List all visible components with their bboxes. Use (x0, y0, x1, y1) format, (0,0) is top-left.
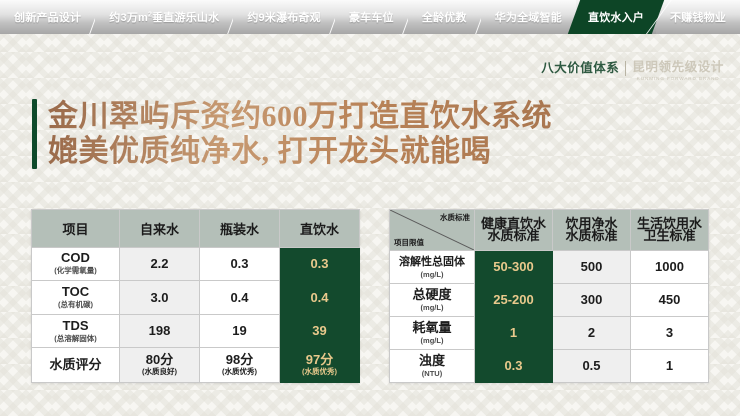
nav-tab-5[interactable]: 华为全域智能 (481, 0, 576, 34)
headline-text: 金川翠屿斥资约600万打造直饮水系统 媲美优质纯净水, 打开龙头就能喝 (48, 99, 552, 169)
row-label-main: 浊度 (390, 354, 474, 368)
diagonal-split-header: 水质标准项目限值 (390, 210, 474, 250)
row-label: COD(化学需氧量) (32, 247, 120, 281)
data-cell-r3-c1: 0.5 (553, 350, 631, 383)
row-label: 浊度(NTU) (390, 350, 475, 383)
cell-value: 3 (631, 326, 708, 340)
row-label-main: COD (32, 251, 119, 265)
row-label-main: 溶解性总固体 (390, 255, 474, 269)
data-cell-r1-c2: 450 (631, 284, 709, 317)
cell-value: 19 (200, 324, 279, 338)
data-cell-r0-c0: 50-300 (475, 251, 553, 284)
brand-lockup: 八大价值体系 昆明领先级设计 KUNMING FORWARD BRAND (541, 60, 724, 90)
nav-tab-label: 约9米瀑布奇观 (247, 9, 321, 25)
data-cell-r2-c1: 2 (553, 317, 631, 350)
data-cell-r1-c0: 25-200 (475, 284, 553, 317)
table-row: 总硬度(mg/L)25-200300450 (390, 284, 709, 317)
column-header-line2: 水质标准 (475, 230, 552, 242)
corner-label-top: 水质标准 (440, 212, 470, 223)
cell-value: 1 (475, 326, 552, 340)
data-cell-r2-c2: 39 (280, 314, 360, 348)
row-label-sub: (总有机碳) (32, 300, 119, 310)
row-label: 水质评分 (32, 348, 120, 383)
cell-value: 450 (631, 293, 708, 307)
cell-value: 2.2 (120, 257, 199, 271)
cell-value: 50-300 (475, 260, 552, 274)
data-cell-r0-c2: 1000 (631, 251, 709, 284)
data-cell-r1-c1: 0.4 (200, 281, 280, 315)
nav-tab-label: 全龄优教 (422, 9, 467, 25)
brand-main-title: 八大价值体系 (541, 60, 619, 76)
column-header-line2: 卫生标准 (631, 230, 708, 242)
nav-tab-2[interactable]: 约9米瀑布奇观 (233, 0, 335, 34)
cell-value: 0.4 (280, 291, 359, 305)
table-row: 溶解性总固体(mg/L)50-3005001000 (390, 251, 709, 284)
corner-header-cell: 水质标准项目限值 (390, 210, 475, 251)
data-cell-r0-c1: 0.3 (200, 247, 280, 281)
headline-line-1: 金川翠屿斥资约600万打造直饮水系统 (48, 99, 552, 134)
brand-subtitle: 昆明领先级设计 (632, 60, 724, 75)
cell-value: 300 (553, 293, 630, 307)
headline-line-2: 媲美优质纯净水, 打开龙头就能喝 (48, 134, 552, 169)
row-label: 耗氧量(mg/L) (390, 317, 475, 350)
nav-tab-label: 豪车车位 (349, 9, 394, 25)
cell-value: 80分 (120, 353, 199, 367)
row-label-sub: (化学需氧量) (32, 266, 119, 276)
brand-divider (625, 61, 626, 76)
column-header-line2: 水质标准 (553, 230, 630, 242)
nav-tab-label: 不赚钱物业 (670, 9, 726, 25)
cell-value: 198 (120, 324, 199, 338)
data-cell-r2-c0: 198 (120, 314, 200, 348)
top-navigation: 创新产品设计约3万m2垂直游乐山水约9米瀑布奇观豪车车位全龄优教华为全域智能直饮… (0, 0, 740, 34)
data-cell-r3-c1: 98分(水质优秀) (200, 348, 280, 383)
headline-accent-bar (32, 99, 37, 169)
cell-value: 0.3 (200, 257, 279, 271)
row-label-sub: (总溶解固体) (32, 334, 119, 344)
row-label: TDS(总溶解固体) (32, 314, 120, 348)
data-cell-r0-c2: 0.3 (280, 247, 360, 281)
data-cell-r3-c2: 97分(水质优秀) (280, 348, 360, 383)
data-cell-r2-c2: 3 (631, 317, 709, 350)
cell-value-sub: (水质优秀) (200, 367, 279, 377)
cell-value: 3.0 (120, 291, 199, 305)
table-row: TDS(总溶解固体)1981939 (32, 314, 360, 348)
table-row: 水质评分80分(水质良好)98分(水质优秀)97分(水质优秀) (32, 348, 360, 383)
column-header-0: 项目 (32, 210, 120, 248)
row-label: 总硬度(mg/L) (390, 284, 475, 317)
corner-label-bottom: 项目限值 (394, 237, 424, 248)
slide-canvas: 创新产品设计约3万m2垂直游乐山水约9米瀑布奇观豪车车位全龄优教华为全域智能直饮… (0, 0, 740, 416)
data-cell-r0-c0: 2.2 (120, 247, 200, 281)
row-label-sub: (mg/L) (390, 336, 474, 346)
row-label: TOC(总有机碳) (32, 281, 120, 315)
cell-value: 39 (280, 324, 359, 338)
table-row: COD(化学需氧量)2.20.30.3 (32, 247, 360, 281)
row-label-main: 耗氧量 (390, 321, 474, 335)
column-header-1: 饮用净水水质标准 (553, 210, 631, 251)
cell-value-sub: (水质优秀) (280, 367, 359, 377)
row-label-main: TOC (32, 285, 119, 299)
data-cell-r2-c1: 19 (200, 314, 280, 348)
nav-tab-0[interactable]: 创新产品设计 (0, 0, 95, 34)
water-standard-table: 水质标准项目限值健康直饮水水质标准饮用净水水质标准生活饮用水卫生标准溶解性总固体… (389, 209, 709, 383)
cell-value: 0.3 (475, 359, 552, 373)
row-label-sub: (NTU) (390, 369, 474, 379)
nav-tab-label: 直饮水入户 (588, 9, 644, 25)
column-header-2: 生活饮用水卫生标准 (631, 210, 709, 251)
cell-value: 0.3 (280, 257, 359, 271)
nav-tab-label: 华为全域智能 (495, 9, 562, 25)
cell-value: 1 (631, 359, 708, 373)
table-row: TOC(总有机碳)3.00.40.4 (32, 281, 360, 315)
row-label-sub: (mg/L) (390, 270, 474, 280)
table-header-row: 水质标准项目限值健康直饮水水质标准饮用净水水质标准生活饮用水卫生标准 (390, 210, 709, 251)
column-header-1: 自来水 (120, 210, 200, 248)
cell-value: 98分 (200, 353, 279, 367)
data-cell-r1-c2: 0.4 (280, 281, 360, 315)
nav-tab-1[interactable]: 约3万m2垂直游乐山水 (95, 0, 233, 34)
cell-value: 25-200 (475, 293, 552, 307)
nav-tab-label: 约3万m2垂直游乐山水 (109, 9, 219, 25)
data-cell-r3-c0: 80分(水质良好) (120, 348, 200, 383)
nav-tab-label: 创新产品设计 (14, 9, 81, 25)
row-label-main: TDS (32, 319, 119, 333)
cell-value: 500 (553, 260, 630, 274)
row-label-sub: (mg/L) (390, 303, 474, 313)
table-row: 浊度(NTU)0.30.51 (390, 350, 709, 383)
cell-value: 97分 (280, 353, 359, 367)
nav-tab-3[interactable]: 豪车车位 (335, 0, 408, 34)
nav-tab-6[interactable]: 直饮水入户 (568, 0, 664, 34)
data-cell-r0-c1: 500 (553, 251, 631, 284)
cell-value: 0.4 (200, 291, 279, 305)
tables-row: 项目自来水瓶装水直饮水COD(化学需氧量)2.20.30.3TOC(总有机碳)3… (0, 209, 740, 383)
water-comparison-table: 项目自来水瓶装水直饮水COD(化学需氧量)2.20.30.3TOC(总有机碳)3… (31, 209, 360, 383)
cell-value: 2 (553, 326, 630, 340)
row-label-main: 总硬度 (390, 288, 474, 302)
cell-value: 1000 (631, 260, 708, 274)
nav-tab-7[interactable]: 不赚钱物业 (656, 0, 740, 34)
data-cell-r2-c0: 1 (475, 317, 553, 350)
data-cell-r3-c0: 0.3 (475, 350, 553, 383)
table-header-row: 项目自来水瓶装水直饮水 (32, 210, 360, 248)
row-label: 溶解性总固体(mg/L) (390, 251, 475, 284)
headline-block: 金川翠屿斥资约600万打造直饮水系统 媲美优质纯净水, 打开龙头就能喝 (32, 99, 552, 169)
row-label-main: 水质评分 (32, 358, 119, 372)
data-cell-r1-c0: 3.0 (120, 281, 200, 315)
column-header-0: 健康直饮水水质标准 (475, 210, 553, 251)
data-cell-r3-c2: 1 (631, 350, 709, 383)
column-header-3: 直饮水 (280, 210, 360, 248)
brand-subtitle-en: KUNMING FORWARD BRAND (632, 77, 724, 82)
superscript-two: 2 (148, 11, 152, 18)
brand-sub-group: 昆明领先级设计 KUNMING FORWARD BRAND (632, 60, 724, 82)
column-header-2: 瓶装水 (200, 210, 280, 248)
cell-value-sub: (水质良好) (120, 367, 199, 377)
cell-value: 0.5 (553, 359, 630, 373)
data-cell-r1-c1: 300 (553, 284, 631, 317)
table-row: 耗氧量(mg/L)123 (390, 317, 709, 350)
nav-tab-4[interactable]: 全龄优教 (408, 0, 481, 34)
